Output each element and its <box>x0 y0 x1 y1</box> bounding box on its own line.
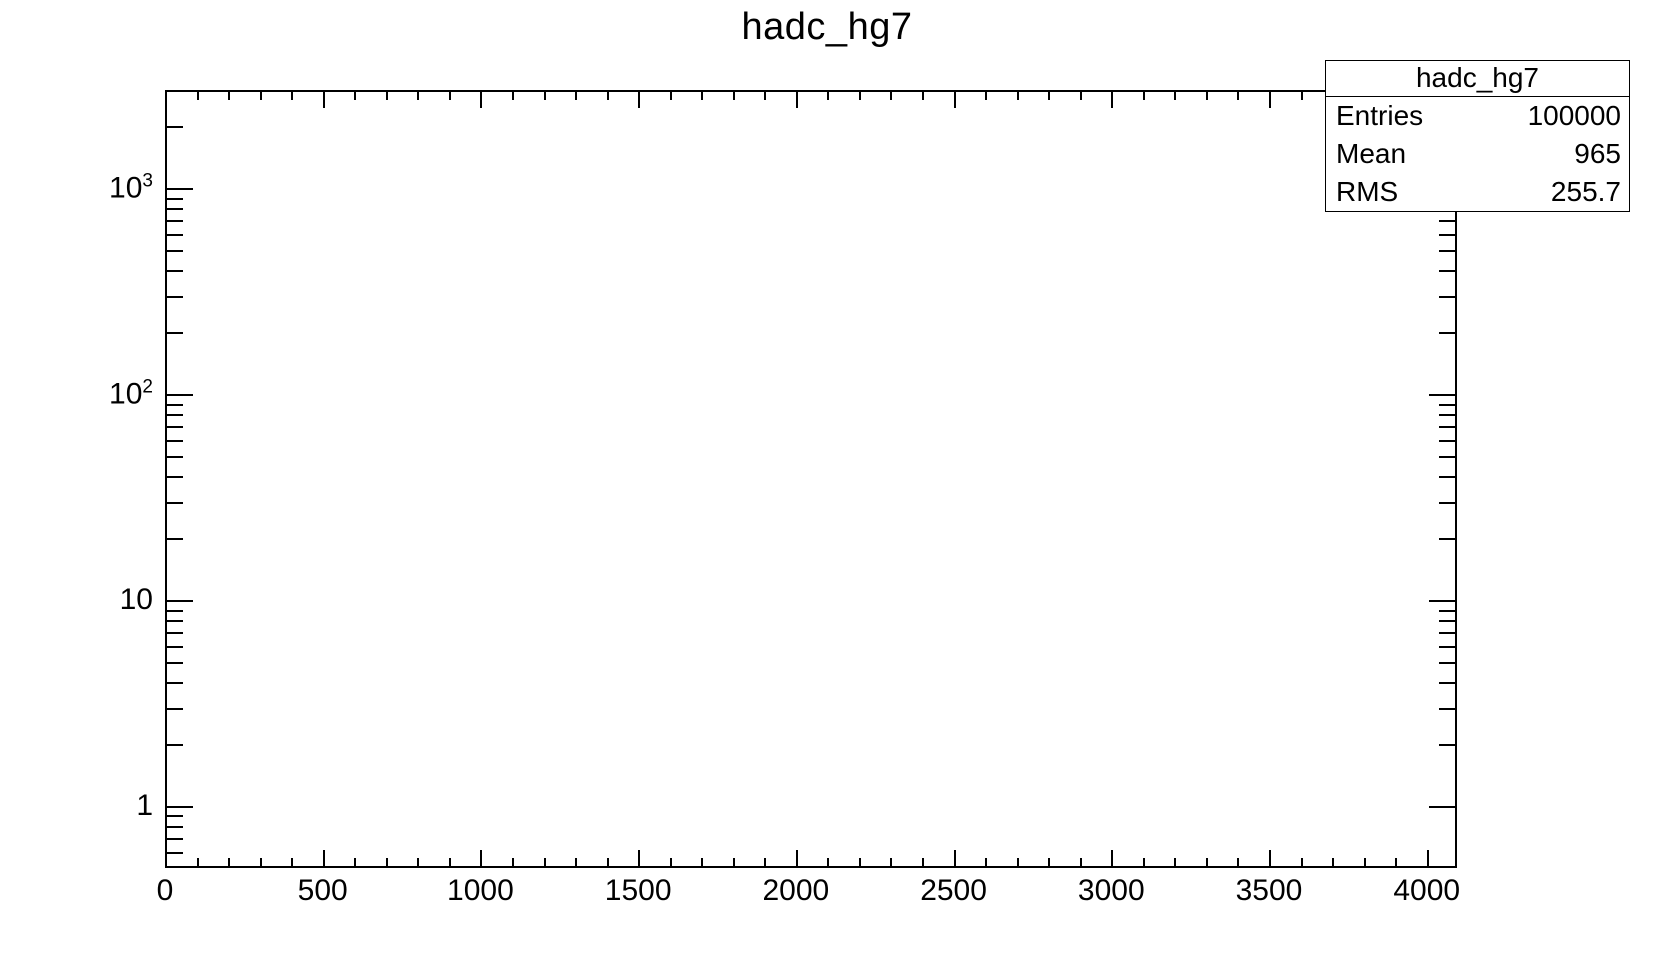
x-axis-tick-label: 3500 <box>1189 874 1349 908</box>
x-axis-minor-tick <box>512 858 514 868</box>
x-axis-major-tick-top <box>638 90 640 108</box>
x-axis-minor-tick <box>1206 858 1208 868</box>
x-axis-minor-tick-top <box>859 90 861 100</box>
y-axis-tick-label: 102 <box>33 377 153 412</box>
x-axis-minor-tick-top <box>1048 90 1050 100</box>
x-axis-minor-tick <box>449 858 451 868</box>
x-axis-minor-tick-top <box>354 90 356 100</box>
y-axis-major-tick <box>165 188 193 190</box>
y-axis-major-tick-right <box>1429 806 1457 808</box>
x-axis-major-tick-top <box>954 90 956 108</box>
y-axis-major-tick <box>165 394 193 396</box>
y-axis-minor-tick <box>165 646 183 648</box>
x-axis-minor-tick-top <box>1017 90 1019 100</box>
y-axis-minor-tick-right <box>1439 404 1457 406</box>
y-axis-minor-tick-right <box>1439 646 1457 648</box>
y-axis-minor-tick-right <box>1439 456 1457 458</box>
y-axis-minor-tick <box>165 414 183 416</box>
stats-row-mean: Mean 965 <box>1326 135 1629 173</box>
y-axis-minor-tick <box>165 332 183 334</box>
x-axis-minor-tick-top <box>449 90 451 100</box>
y-axis-minor-tick <box>165 90 183 92</box>
x-axis-minor-tick <box>890 858 892 868</box>
x-axis-minor-tick-top <box>985 90 987 100</box>
y-axis-minor-tick <box>165 610 183 612</box>
x-axis-tick-label: 1500 <box>558 874 718 908</box>
y-axis-major-tick <box>165 806 193 808</box>
y-axis-minor-tick <box>165 826 183 828</box>
y-axis-minor-tick-right <box>1439 332 1457 334</box>
y-axis-minor-tick <box>165 620 183 622</box>
y-axis-minor-tick <box>165 476 183 478</box>
y-axis-major-tick <box>165 600 193 602</box>
y-axis-tick-label: 103 <box>33 171 153 206</box>
stats-row-entries: Entries 100000 <box>1326 97 1629 135</box>
x-axis-minor-tick <box>922 858 924 868</box>
stats-value: 255.7 <box>1551 174 1621 210</box>
x-axis-minor-tick <box>1395 858 1397 868</box>
y-axis-minor-tick <box>165 852 183 854</box>
x-axis-minor-tick <box>764 858 766 868</box>
y-axis-minor-tick-right <box>1439 270 1457 272</box>
y-axis-minor-tick <box>165 744 183 746</box>
x-axis-tick-label: 500 <box>243 874 403 908</box>
x-axis-tick-label: 3000 <box>1031 874 1191 908</box>
y-axis-minor-tick-right <box>1439 682 1457 684</box>
x-axis-minor-tick <box>1143 858 1145 868</box>
page-title: hadc_hg7 <box>0 6 1654 49</box>
x-axis-major-tick-top <box>165 90 167 108</box>
x-axis-major-tick <box>796 850 798 868</box>
y-axis-minor-tick <box>165 440 183 442</box>
x-axis-minor-tick-top <box>670 90 672 100</box>
x-axis-minor-tick <box>354 858 356 868</box>
y-axis-minor-tick-right <box>1439 610 1457 612</box>
x-axis-minor-tick-top <box>890 90 892 100</box>
plot-frame <box>165 90 1457 868</box>
x-axis-major-tick-top <box>480 90 482 108</box>
x-axis-major-tick <box>323 850 325 868</box>
x-axis-minor-tick <box>291 858 293 868</box>
y-axis-minor-tick <box>165 404 183 406</box>
x-axis-minor-tick <box>827 858 829 868</box>
x-axis-tick-label: 4000 <box>1347 874 1507 908</box>
y-axis-major-tick-right <box>1429 394 1457 396</box>
stats-key: RMS <box>1336 174 1398 210</box>
x-axis-major-tick <box>638 850 640 868</box>
chart-root: hadc_hg7 0500100015002000250030003500400… <box>0 0 1654 965</box>
x-axis-major-tick-top <box>1269 90 1271 108</box>
stats-key: Mean <box>1336 136 1406 172</box>
y-axis-minor-tick <box>165 682 183 684</box>
x-axis-minor-tick <box>1080 858 1082 868</box>
x-axis-major-tick-top <box>323 90 325 108</box>
x-axis-minor-tick <box>670 858 672 868</box>
y-axis-minor-tick-right <box>1439 632 1457 634</box>
x-axis-tick-label: 2500 <box>874 874 1034 908</box>
stats-key: Entries <box>1336 98 1423 134</box>
x-axis-major-tick <box>1427 850 1429 868</box>
x-axis-minor-tick-top <box>512 90 514 100</box>
x-axis-minor-tick-top <box>291 90 293 100</box>
y-axis-minor-tick <box>165 662 183 664</box>
y-axis-minor-tick <box>165 815 183 817</box>
x-axis-major-tick <box>1111 850 1113 868</box>
y-axis-minor-tick-right <box>1439 476 1457 478</box>
x-axis-minor-tick-top <box>575 90 577 100</box>
y-axis-major-tick-right <box>1429 600 1457 602</box>
x-axis-minor-tick-top <box>1206 90 1208 100</box>
x-axis-minor-tick <box>1364 858 1366 868</box>
y-axis-minor-tick <box>165 632 183 634</box>
x-axis-minor-tick <box>859 858 861 868</box>
y-axis-minor-tick-right <box>1439 620 1457 622</box>
x-axis-major-tick <box>480 850 482 868</box>
x-axis-minor-tick <box>1332 858 1334 868</box>
y-axis-minor-tick-right <box>1439 744 1457 746</box>
x-axis-minor-tick <box>197 858 199 868</box>
x-axis-minor-tick <box>1301 858 1303 868</box>
x-axis-major-tick <box>1269 850 1271 868</box>
y-axis-minor-tick-right <box>1439 662 1457 664</box>
y-axis-minor-tick-right <box>1439 538 1457 540</box>
x-axis-minor-tick-top <box>197 90 199 100</box>
x-axis-minor-tick <box>985 858 987 868</box>
y-axis-minor-tick-right <box>1439 502 1457 504</box>
x-axis-minor-tick-top <box>764 90 766 100</box>
y-axis-minor-tick <box>165 426 183 428</box>
x-axis-minor-tick <box>386 858 388 868</box>
x-axis-minor-tick-top <box>827 90 829 100</box>
x-axis-major-tick-top <box>796 90 798 108</box>
x-axis-minor-tick <box>701 858 703 868</box>
x-axis-minor-tick <box>417 858 419 868</box>
x-axis-major-tick <box>954 850 956 868</box>
x-axis-minor-tick-top <box>544 90 546 100</box>
x-axis-minor-tick <box>607 858 609 868</box>
x-axis-minor-tick <box>733 858 735 868</box>
y-axis-minor-tick <box>165 198 183 200</box>
y-axis-minor-tick <box>165 270 183 272</box>
x-axis-minor-tick <box>544 858 546 868</box>
x-axis-minor-tick <box>1048 858 1050 868</box>
x-axis-minor-tick-top <box>1174 90 1176 100</box>
x-axis-minor-tick <box>260 858 262 868</box>
x-axis-minor-tick-top <box>1237 90 1239 100</box>
x-axis-minor-tick-top <box>1301 90 1303 100</box>
x-axis-minor-tick-top <box>1143 90 1145 100</box>
y-axis-minor-tick-right <box>1439 250 1457 252</box>
stats-title: hadc_hg7 <box>1326 61 1629 97</box>
y-axis-minor-tick-right <box>1439 440 1457 442</box>
stats-value: 100000 <box>1528 98 1621 134</box>
y-axis-minor-tick-right <box>1439 426 1457 428</box>
x-axis-major-tick-top <box>1111 90 1113 108</box>
y-axis-minor-tick <box>165 208 183 210</box>
y-axis-minor-tick <box>165 126 183 128</box>
y-axis-minor-tick <box>165 250 183 252</box>
y-axis-minor-tick <box>165 234 183 236</box>
x-axis-minor-tick <box>1174 858 1176 868</box>
y-axis-minor-tick <box>165 538 183 540</box>
y-axis-tick-label: 1 <box>33 789 153 823</box>
x-axis-minor-tick-top <box>417 90 419 100</box>
y-axis-minor-tick-right <box>1439 708 1457 710</box>
x-axis-minor-tick <box>228 858 230 868</box>
x-axis-minor-tick <box>575 858 577 868</box>
stats-box: hadc_hg7 Entries 100000 Mean 965 RMS 255… <box>1325 60 1630 212</box>
x-axis-minor-tick-top <box>228 90 230 100</box>
x-axis-tick-label: 2000 <box>716 874 876 908</box>
x-axis-minor-tick-top <box>701 90 703 100</box>
x-axis-minor-tick-top <box>1080 90 1082 100</box>
y-axis-minor-tick <box>165 708 183 710</box>
y-axis-minor-tick <box>165 296 183 298</box>
stats-row-rms: RMS 255.7 <box>1326 173 1629 211</box>
x-axis-tick-label: 0 <box>85 874 245 908</box>
y-axis-minor-tick <box>165 456 183 458</box>
x-axis-minor-tick-top <box>386 90 388 100</box>
y-axis-minor-tick-right <box>1439 296 1457 298</box>
x-axis-tick-label: 1000 <box>400 874 560 908</box>
x-axis-minor-tick-top <box>607 90 609 100</box>
y-axis-minor-tick-right <box>1439 414 1457 416</box>
y-axis-minor-tick-right <box>1439 220 1457 222</box>
stats-value: 965 <box>1574 136 1621 172</box>
x-axis-minor-tick-top <box>922 90 924 100</box>
y-axis-tick-label: 10 <box>33 583 153 617</box>
y-axis-minor-tick <box>165 502 183 504</box>
y-axis-minor-tick <box>165 220 183 222</box>
x-axis-minor-tick-top <box>733 90 735 100</box>
y-axis-minor-tick-right <box>1439 234 1457 236</box>
x-axis-minor-tick-top <box>260 90 262 100</box>
x-axis-minor-tick <box>1237 858 1239 868</box>
x-axis-minor-tick <box>1017 858 1019 868</box>
y-axis-minor-tick <box>165 838 183 840</box>
